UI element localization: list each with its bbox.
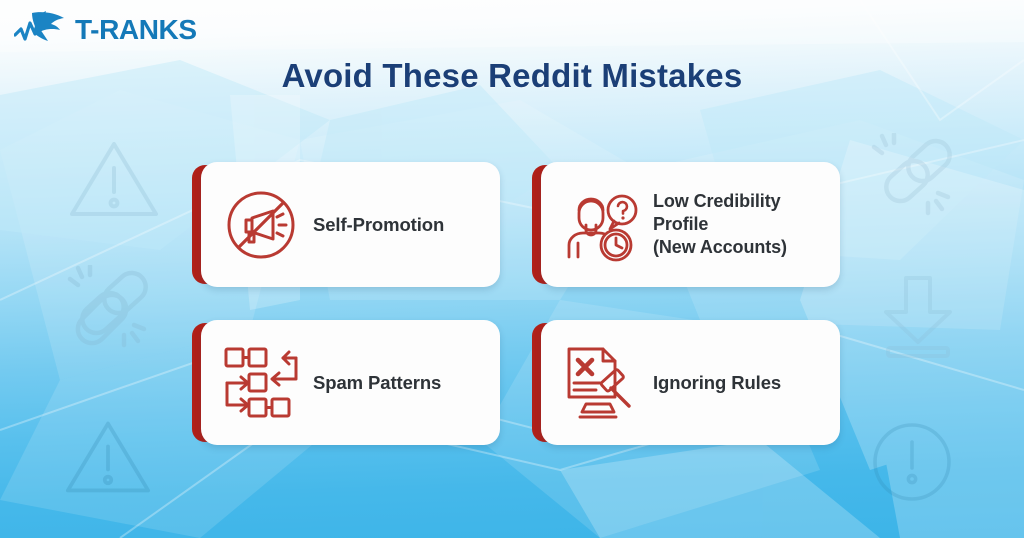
no-megaphone-icon: [219, 183, 303, 267]
page-title: Avoid These Reddit Mistakes: [0, 57, 1024, 95]
card-label: Ignoring Rules: [643, 371, 840, 395]
card-label: Spam Patterns: [303, 371, 500, 395]
card-panel[interactable]: Low Credibility Profile (New Accounts): [541, 162, 840, 287]
card-label-line: (New Accounts): [653, 236, 832, 259]
brand-logo-text: T-RANKS: [75, 16, 197, 44]
card-spam-patterns[interactable]: Spam Patterns: [192, 320, 500, 445]
card-label-line: Low Credibility: [653, 190, 832, 213]
chain-link-icon: [64, 265, 160, 357]
shark-chart-arrow-icon: [14, 9, 72, 52]
card-ignoring-rules[interactable]: Ignoring Rules: [532, 320, 840, 445]
card-low-credibility-profile[interactable]: Low Credibility Profile (New Accounts): [532, 162, 840, 287]
exclamation-circle-icon: [870, 420, 954, 504]
card-panel[interactable]: Spam Patterns: [201, 320, 500, 445]
infographic-canvas: T-RANKS Avoid These Reddit Mistakes: [0, 0, 1024, 538]
user-question-clock-icon: [559, 183, 643, 267]
document-x-gavel-icon: [559, 341, 643, 425]
mistake-card-grid: Self-Promotion: [192, 162, 840, 445]
repeat-pattern-boxes-icon: [219, 341, 303, 425]
card-label: Self-Promotion: [303, 213, 500, 237]
warning-triangle-icon: [62, 414, 154, 500]
chain-link-icon: [868, 133, 964, 225]
card-label: Low Credibility Profile (New Accounts): [643, 190, 840, 259]
card-label-line: Profile: [653, 213, 832, 236]
card-panel[interactable]: Ignoring Rules: [541, 320, 840, 445]
brand-logo[interactable]: T-RANKS: [14, 10, 197, 50]
card-self-promotion[interactable]: Self-Promotion: [192, 162, 500, 287]
warning-triangle-icon: [66, 134, 162, 224]
download-arrow-icon: [878, 272, 958, 360]
card-panel[interactable]: Self-Promotion: [201, 162, 500, 287]
